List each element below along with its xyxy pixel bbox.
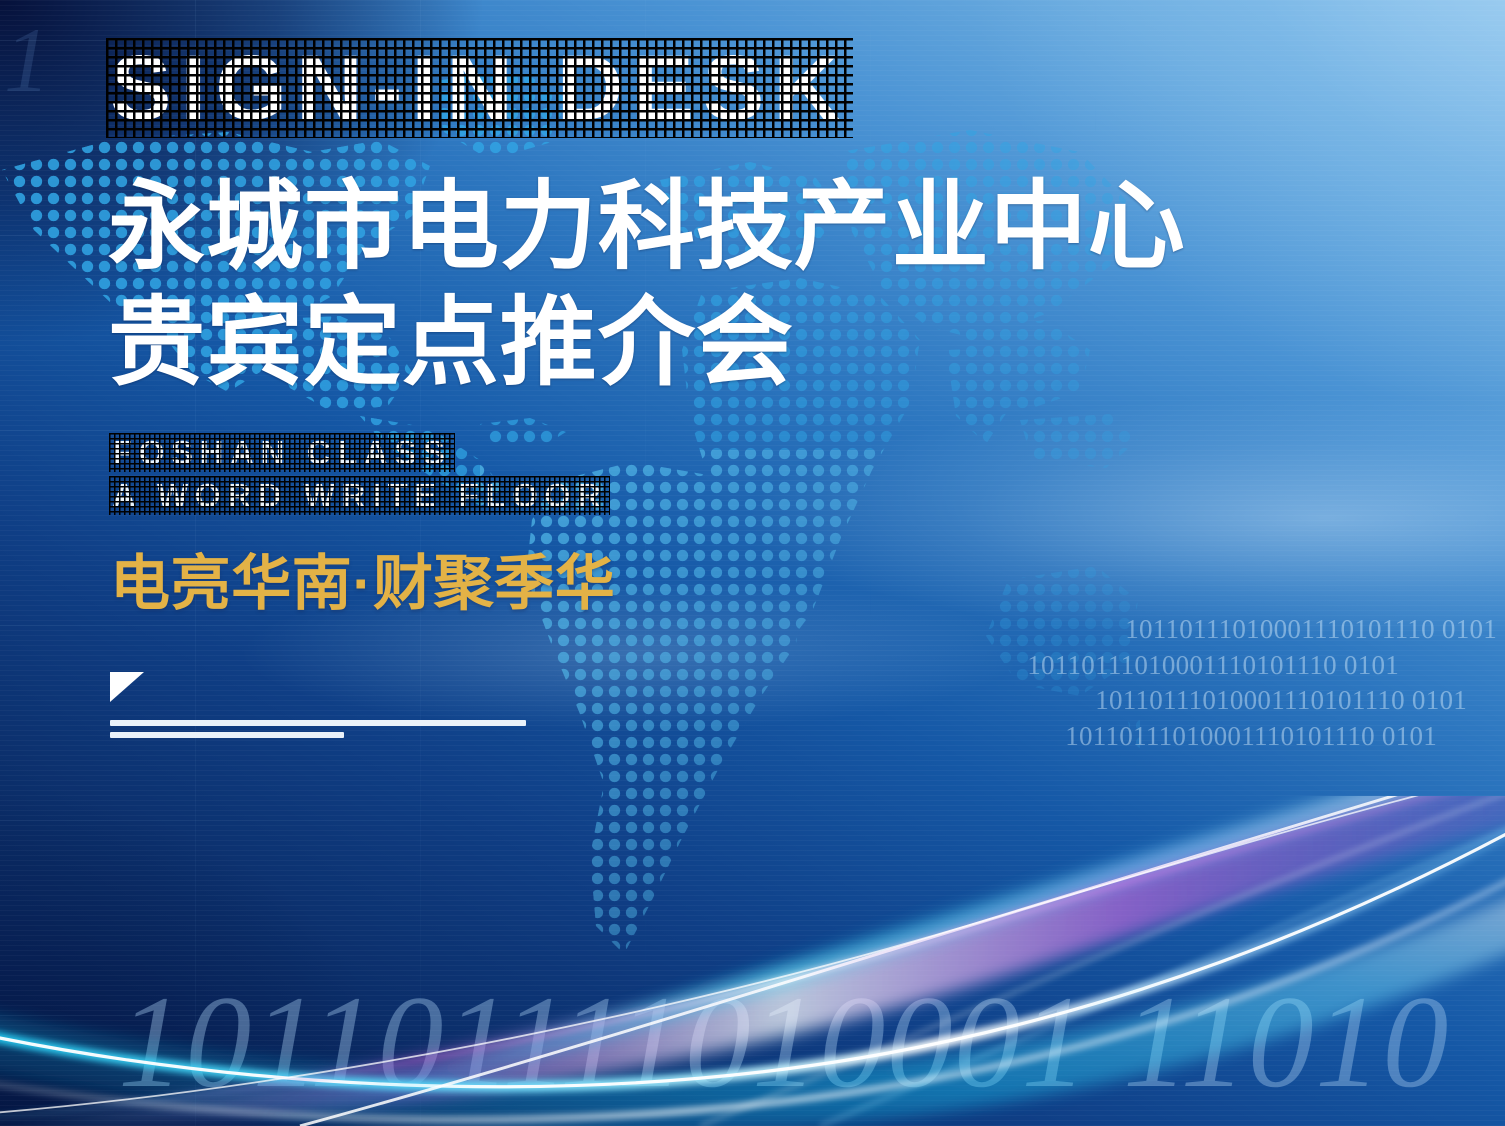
binary-text-block: 10110111010001110101110 0101 10110111010… [937, 612, 1497, 755]
binary-row: 10110111010001110101110 0101 [937, 719, 1437, 755]
page-title-line-1: 永城市电力科技产业中心 [108, 176, 1186, 279]
poster-content: SIGN-IN DESK 永城市电力科技产业中心 贵宾定点推介会 FOSHAN … [108, 0, 1428, 1126]
binary-row: 10110111010001110101110 0101 [937, 612, 1497, 648]
binary-row: 10110111010001110101110 0101 [937, 648, 1399, 684]
binary-text-large: 101101111010001 11010 [118, 976, 1450, 1108]
binary-row: 10110111010001110101110 0101 [937, 683, 1467, 719]
page-title-line-2: 贵宾定点推介会 [108, 292, 794, 395]
tagline: 电亮华南·财聚季华 [110, 535, 615, 622]
divider-rule-short [110, 732, 344, 738]
subtitle-line-2: A WORD WRITE FLOOR [112, 479, 607, 512]
decorative-rule-group [110, 672, 540, 738]
poster-canvas: 1 [0, 0, 1505, 1126]
eyebrow-sign-in-desk: SIGN-IN DESK [110, 42, 849, 134]
triangle-flag-icon [110, 672, 144, 702]
divider-rule-long [110, 720, 526, 726]
subtitle-line-1: FOSHAN CLASS [112, 436, 452, 469]
